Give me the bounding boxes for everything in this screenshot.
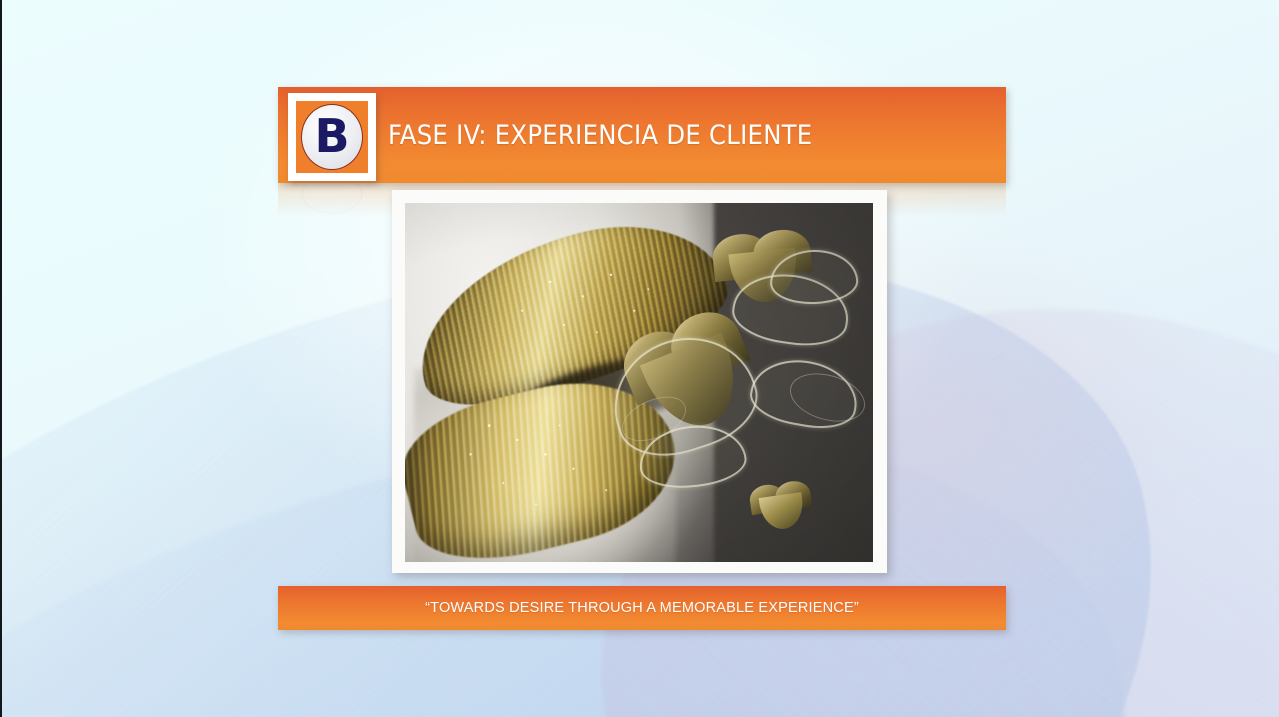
presentation-slide: FASE IV: EXPERIENCIA DE CLIENTE B xyxy=(0,0,1279,717)
page-title: FASE IV: EXPERIENCIA DE CLIENTE xyxy=(388,120,812,151)
heart-tip xyxy=(758,492,806,531)
logo-letter: B xyxy=(314,113,349,159)
brand-logo[interactable]: B xyxy=(288,93,376,181)
logo-frame: B xyxy=(288,93,376,181)
caption-bar: “TOWARDS DESIRE THROUGH A MEMORABLE EXPE… xyxy=(278,586,1006,630)
heart-icon-small xyxy=(748,479,815,534)
caption-text: “TOWARDS DESIRE THROUGH A MEMORABLE EXPE… xyxy=(425,600,859,616)
title-bar: FASE IV: EXPERIENCIA DE CLIENTE xyxy=(278,87,1006,183)
slide-photo xyxy=(405,203,873,562)
photo-frame xyxy=(392,190,887,573)
letter-b-logo-icon: B xyxy=(301,104,363,170)
logo-square: B xyxy=(296,101,368,173)
